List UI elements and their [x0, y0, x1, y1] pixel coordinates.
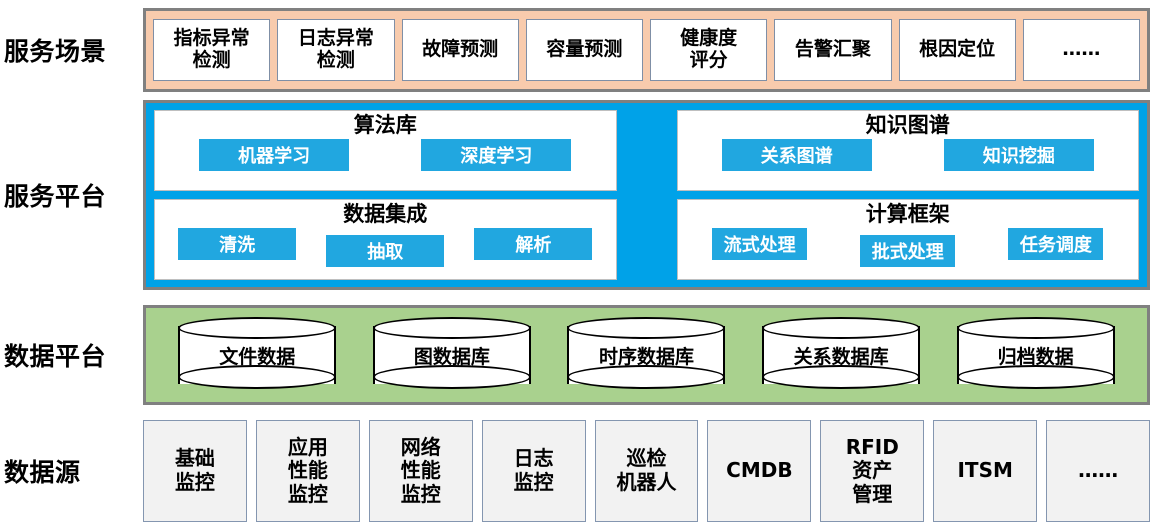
database-cylinder-icon[interactable]: 关系数据库: [762, 317, 920, 393]
scenario-box[interactable]: 指标异常检测: [153, 19, 270, 81]
platform-chip[interactable]: 关系图谱: [722, 139, 872, 171]
database-cylinder-icon[interactable]: 时序数据库: [567, 317, 725, 393]
cylinder-label: 归档数据: [957, 317, 1115, 393]
data-source-box[interactable]: RFID资产管理: [820, 420, 924, 522]
cylinder-label: 时序数据库: [567, 317, 725, 393]
platform-chip-row: 机器学习深度学习: [155, 139, 616, 171]
scenario-box[interactable]: 容量预测: [526, 19, 643, 81]
scenario-box[interactable]: ……: [1023, 19, 1140, 81]
platform-chip[interactable]: 机器学习: [199, 139, 349, 171]
cylinder-label: 图数据库: [373, 317, 531, 393]
data-source-box[interactable]: 日志监控: [482, 420, 586, 522]
scenario-box[interactable]: 根因定位: [899, 19, 1016, 81]
data-source-box[interactable]: ITSM: [933, 420, 1037, 522]
data-source-box[interactable]: 巡检机器人: [595, 420, 699, 522]
platform-panel: 算法库机器学习深度学习: [154, 110, 617, 191]
platform-chip[interactable]: 抽取: [326, 235, 444, 267]
scenario-box[interactable]: 故障预测: [402, 19, 519, 81]
scenario-box[interactable]: 健康度评分: [650, 19, 767, 81]
data-source-box[interactable]: 应用性能监控: [256, 420, 360, 522]
platform-panel: 数据集成清洗抽取解析: [154, 199, 617, 280]
platform-panel-title: 计算框架: [866, 202, 950, 226]
data-source-box[interactable]: ……: [1046, 420, 1150, 522]
platform-chip[interactable]: 知识挖掘: [944, 139, 1094, 171]
row-label-service-scenarios: 服务场景: [0, 8, 140, 92]
platform-chip[interactable]: 解析: [474, 228, 592, 260]
database-cylinder-icon[interactable]: 归档数据: [957, 317, 1115, 393]
platform-panel: 计算框架流式处理批式处理任务调度: [677, 199, 1140, 280]
platform-chip[interactable]: 流式处理: [712, 228, 807, 260]
row-label-service-platform: 服务平台: [0, 100, 140, 290]
platform-row-bottom: 数据集成清洗抽取解析计算框架流式处理批式处理任务调度: [154, 199, 1139, 280]
platform-chip[interactable]: 深度学习: [421, 139, 571, 171]
data-source-box[interactable]: CMDB: [707, 420, 811, 522]
data-platform-band: 文件数据图数据库时序数据库关系数据库归档数据: [143, 305, 1150, 405]
platform-chip[interactable]: 清洗: [178, 228, 296, 260]
platform-panel-title: 算法库: [354, 113, 417, 137]
scenario-box[interactable]: 告警汇聚: [774, 19, 891, 81]
data-source-box[interactable]: 网络性能监控: [369, 420, 473, 522]
platform-panel: 知识图谱关系图谱知识挖掘: [677, 110, 1140, 191]
service-scenarios-band: 指标异常检测日志异常检测故障预测容量预测健康度评分告警汇聚根因定位……: [143, 8, 1150, 92]
row-label-data-sources: 数据源: [0, 420, 140, 522]
database-cylinder-icon[interactable]: 文件数据: [178, 317, 336, 393]
service-platform-band: 算法库机器学习深度学习知识图谱关系图谱知识挖掘 数据集成清洗抽取解析计算框架流式…: [143, 100, 1150, 290]
platform-chip-row: 流式处理批式处理任务调度: [678, 228, 1139, 267]
cylinder-label: 关系数据库: [762, 317, 920, 393]
platform-panel-title: 数据集成: [343, 202, 427, 226]
database-cylinder-icon[interactable]: 图数据库: [373, 317, 531, 393]
row-label-data-platform: 数据平台: [0, 305, 140, 405]
platform-chip-row: 关系图谱知识挖掘: [678, 139, 1139, 171]
architecture-diagram: 服务场景 指标异常检测日志异常检测故障预测容量预测健康度评分告警汇聚根因定位………: [0, 0, 1159, 530]
data-sources-row: 基础监控应用性能监控网络性能监控日志监控巡检机器人CMDBRFID资产管理ITS…: [143, 420, 1150, 522]
data-source-box[interactable]: 基础监控: [143, 420, 247, 522]
platform-chip[interactable]: 任务调度: [1008, 228, 1103, 260]
platform-chip[interactable]: 批式处理: [860, 235, 955, 267]
cylinder-label: 文件数据: [178, 317, 336, 393]
platform-chip-row: 清洗抽取解析: [155, 228, 616, 267]
scenario-box[interactable]: 日志异常检测: [277, 19, 394, 81]
platform-row-top: 算法库机器学习深度学习知识图谱关系图谱知识挖掘: [154, 110, 1139, 191]
platform-panel-title: 知识图谱: [866, 113, 950, 137]
